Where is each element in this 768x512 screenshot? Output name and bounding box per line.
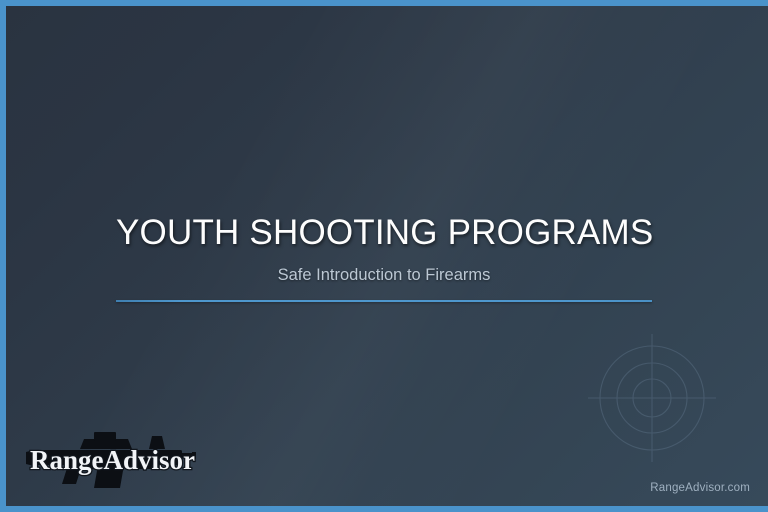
title-block: YOUTH SHOOTING PROGRAMS Safe Introductio… [116, 212, 652, 302]
frame-border-left [0, 0, 6, 512]
footer-website: RangeAdvisor.com [650, 482, 750, 494]
title-slide: YOUTH SHOOTING PROGRAMS Safe Introductio… [0, 0, 768, 512]
frame-border-top [0, 0, 768, 6]
page-subtitle: Safe Introduction to Firearms [116, 264, 652, 286]
logo-wordmark: RangeAdvisor [30, 445, 195, 475]
frame-border-bottom [0, 506, 768, 512]
title-divider [116, 300, 652, 302]
page-title: YOUTH SHOOTING PROGRAMS [116, 212, 652, 254]
rangeadvisor-logo: RangeAdvisor [24, 426, 198, 488]
